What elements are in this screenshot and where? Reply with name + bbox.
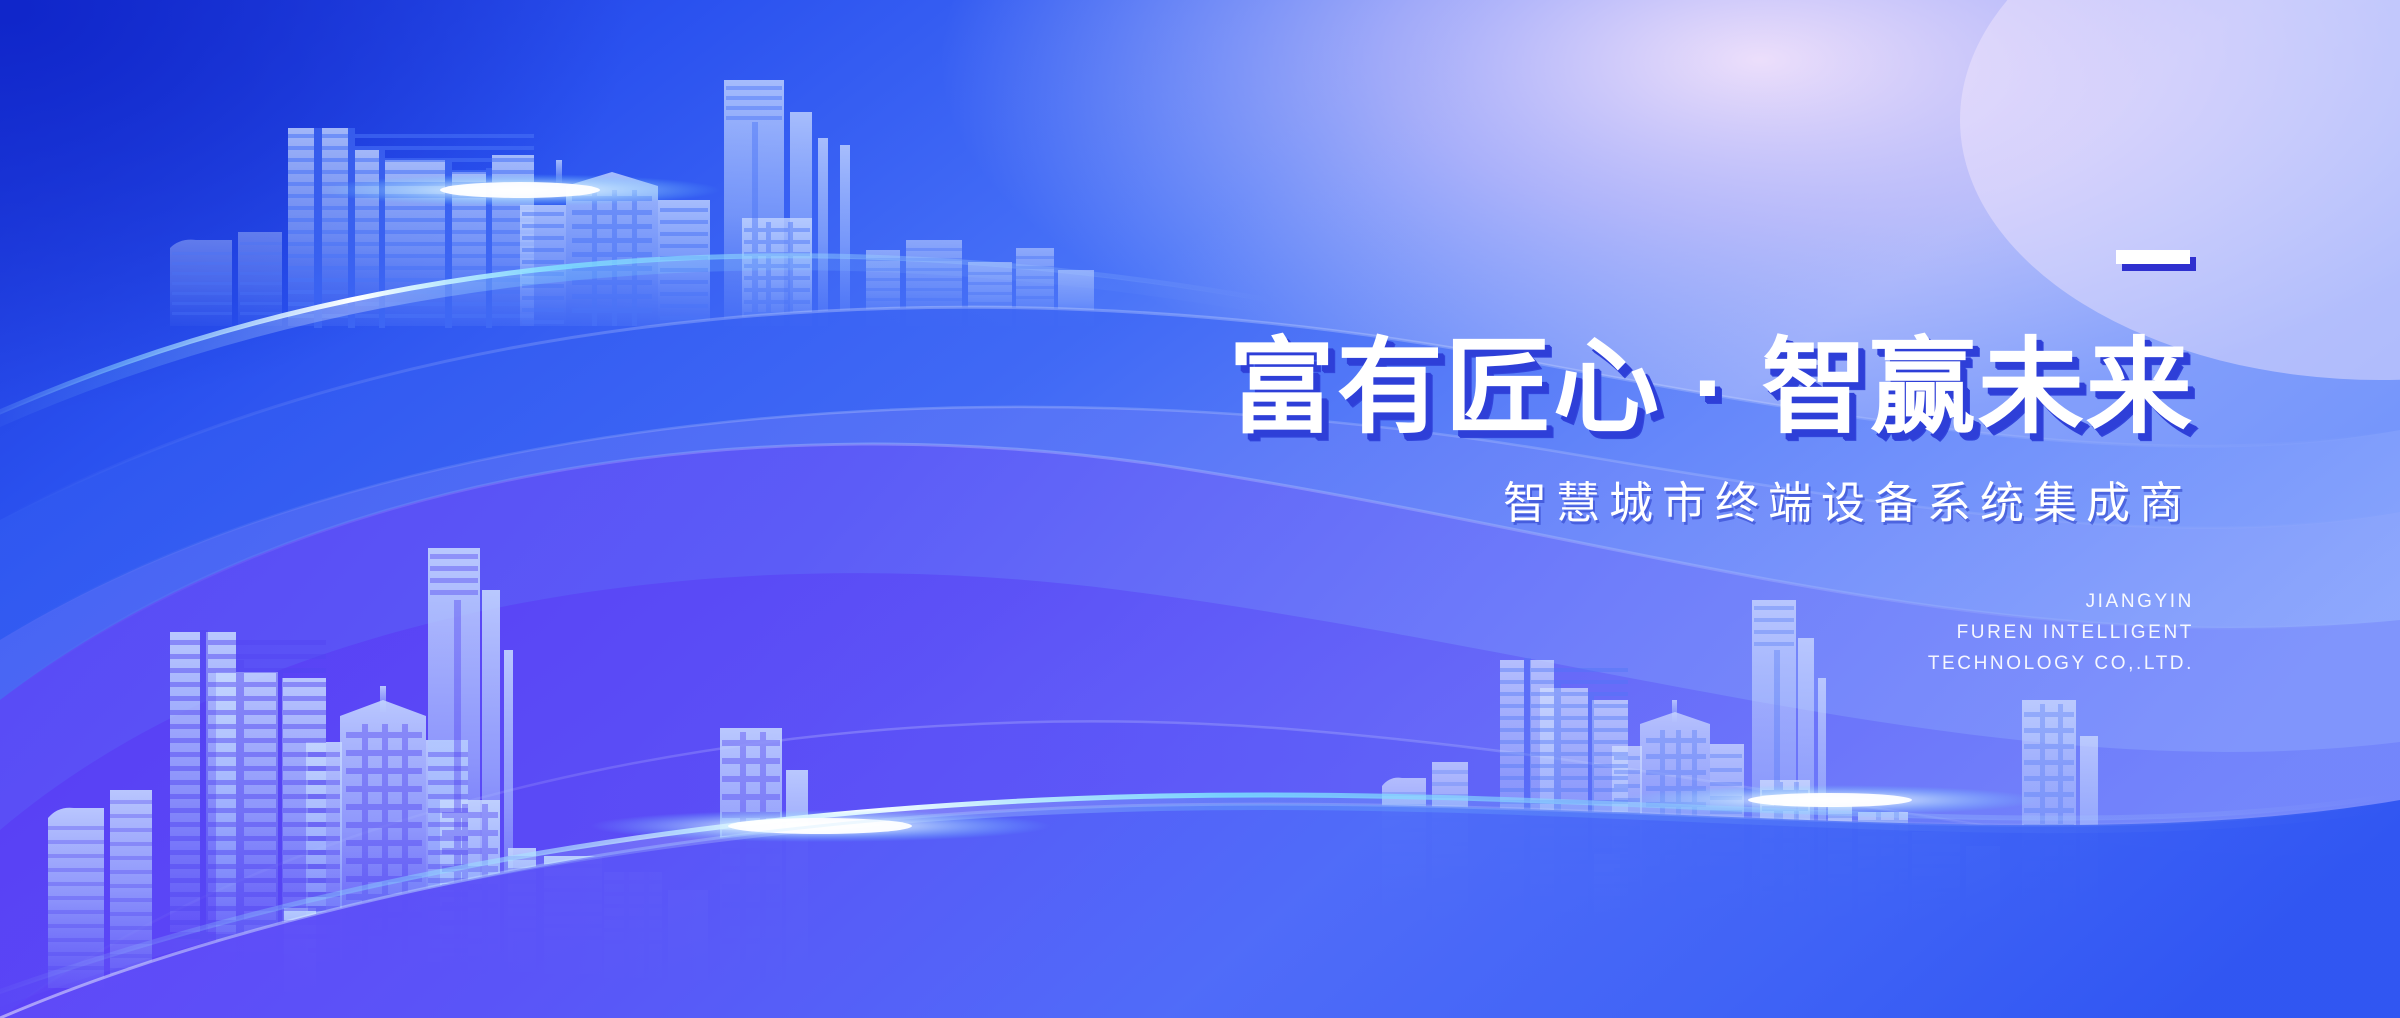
accent-dash-icon [2116,250,2190,264]
page-subtitle: 智慧城市终端设备系统集成商 [1014,467,2194,531]
banner-canvas: 富有匠心 · 智赢未来 智慧城市终端设备系统集成商 JIANGYIN FUREN… [0,0,2400,1018]
company-name-block: JIANGYIN FUREN INTELLIGENT TECHNOLOGY CO… [1014,587,2194,679]
company-city: JIANGYIN [1014,587,2194,618]
company-suffix: TECHNOLOGY CO,.LTD. [1014,649,2194,680]
page-title: 富有匠心 · 智赢未来 [990,335,2194,441]
company-name: FUREN INTELLIGENT [1014,618,2194,649]
banner-content: 富有匠心 · 智赢未来 智慧城市终端设备系统集成商 JIANGYIN FUREN… [1014,250,2194,679]
